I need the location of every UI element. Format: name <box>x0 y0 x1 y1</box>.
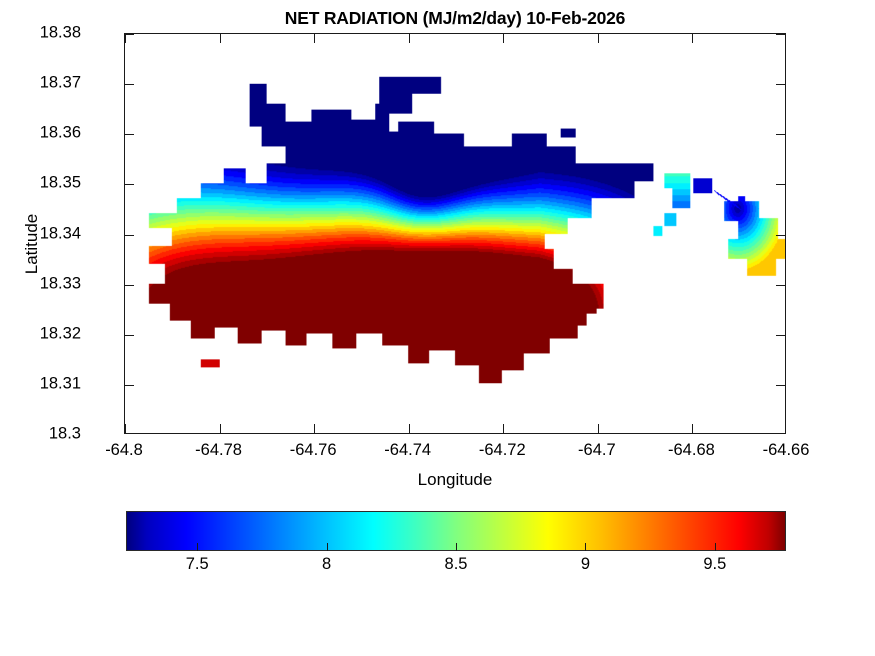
x-tick-mark <box>220 34 221 43</box>
y-tick-mark <box>125 84 134 85</box>
y-tick-mark <box>776 385 785 386</box>
y-tick-mark <box>125 184 134 185</box>
y-tick-label: 18.36 <box>0 124 81 143</box>
x-tick-mark <box>692 34 693 43</box>
y-tick-mark <box>776 335 785 336</box>
y-tick-label: 18.38 <box>0 24 81 43</box>
x-tick-mark <box>125 34 126 43</box>
colorbar-tick-label: 7.5 <box>147 555 247 574</box>
y-tick-mark <box>125 335 134 336</box>
y-tick-mark <box>125 385 134 386</box>
y-tick-mark <box>125 235 134 236</box>
colorbar[interactable]: 7.588.599.5 <box>126 511 786 551</box>
colorbar-tick-mark <box>327 543 328 551</box>
x-tick-mark <box>125 424 126 433</box>
x-tick-mark <box>314 34 315 43</box>
y-tick-mark <box>776 285 785 286</box>
colorbar-tick-mark <box>585 543 586 551</box>
x-tick-label: -64.66 <box>726 441 846 460</box>
x-tick-mark <box>409 34 410 43</box>
y-axis-label: Latitude <box>22 154 42 334</box>
y-tick-label: 18.31 <box>0 374 81 393</box>
contour-map <box>125 34 785 433</box>
page-title: NET RADIATION (MJ/m2/day) 10-Feb-2026 <box>124 8 786 29</box>
x-tick-mark <box>314 424 315 433</box>
x-tick-mark <box>220 424 221 433</box>
colorbar-tick-label: 9 <box>535 555 635 574</box>
x-tick-mark <box>598 34 599 43</box>
y-tick-label: 18.37 <box>0 74 81 93</box>
y-tick-mark <box>776 134 785 135</box>
colorbar-tick-mark <box>197 543 198 551</box>
x-tick-mark <box>503 34 504 43</box>
plot-axes[interactable] <box>124 33 786 434</box>
y-tick-mark <box>776 235 785 236</box>
colorbar-tick-label: 9.5 <box>665 555 765 574</box>
x-tick-mark <box>692 424 693 433</box>
y-tick-mark <box>776 34 785 35</box>
colorbar-tick-mark <box>456 543 457 551</box>
colorbar-tick-mark <box>715 543 716 551</box>
colorbar-tick-label: 8 <box>277 555 377 574</box>
y-tick-mark <box>125 285 134 286</box>
y-tick-mark <box>125 34 134 35</box>
y-tick-mark <box>776 84 785 85</box>
x-tick-mark <box>598 424 599 433</box>
x-tick-mark <box>503 424 504 433</box>
colorbar-tick-label: 8.5 <box>406 555 506 574</box>
x-axis-label: Longitude <box>124 470 786 490</box>
y-tick-mark <box>776 184 785 185</box>
figure-canvas: NET RADIATION (MJ/m2/day) 10-Feb-2026 18… <box>0 0 875 656</box>
y-tick-mark <box>125 134 134 135</box>
x-tick-mark <box>409 424 410 433</box>
